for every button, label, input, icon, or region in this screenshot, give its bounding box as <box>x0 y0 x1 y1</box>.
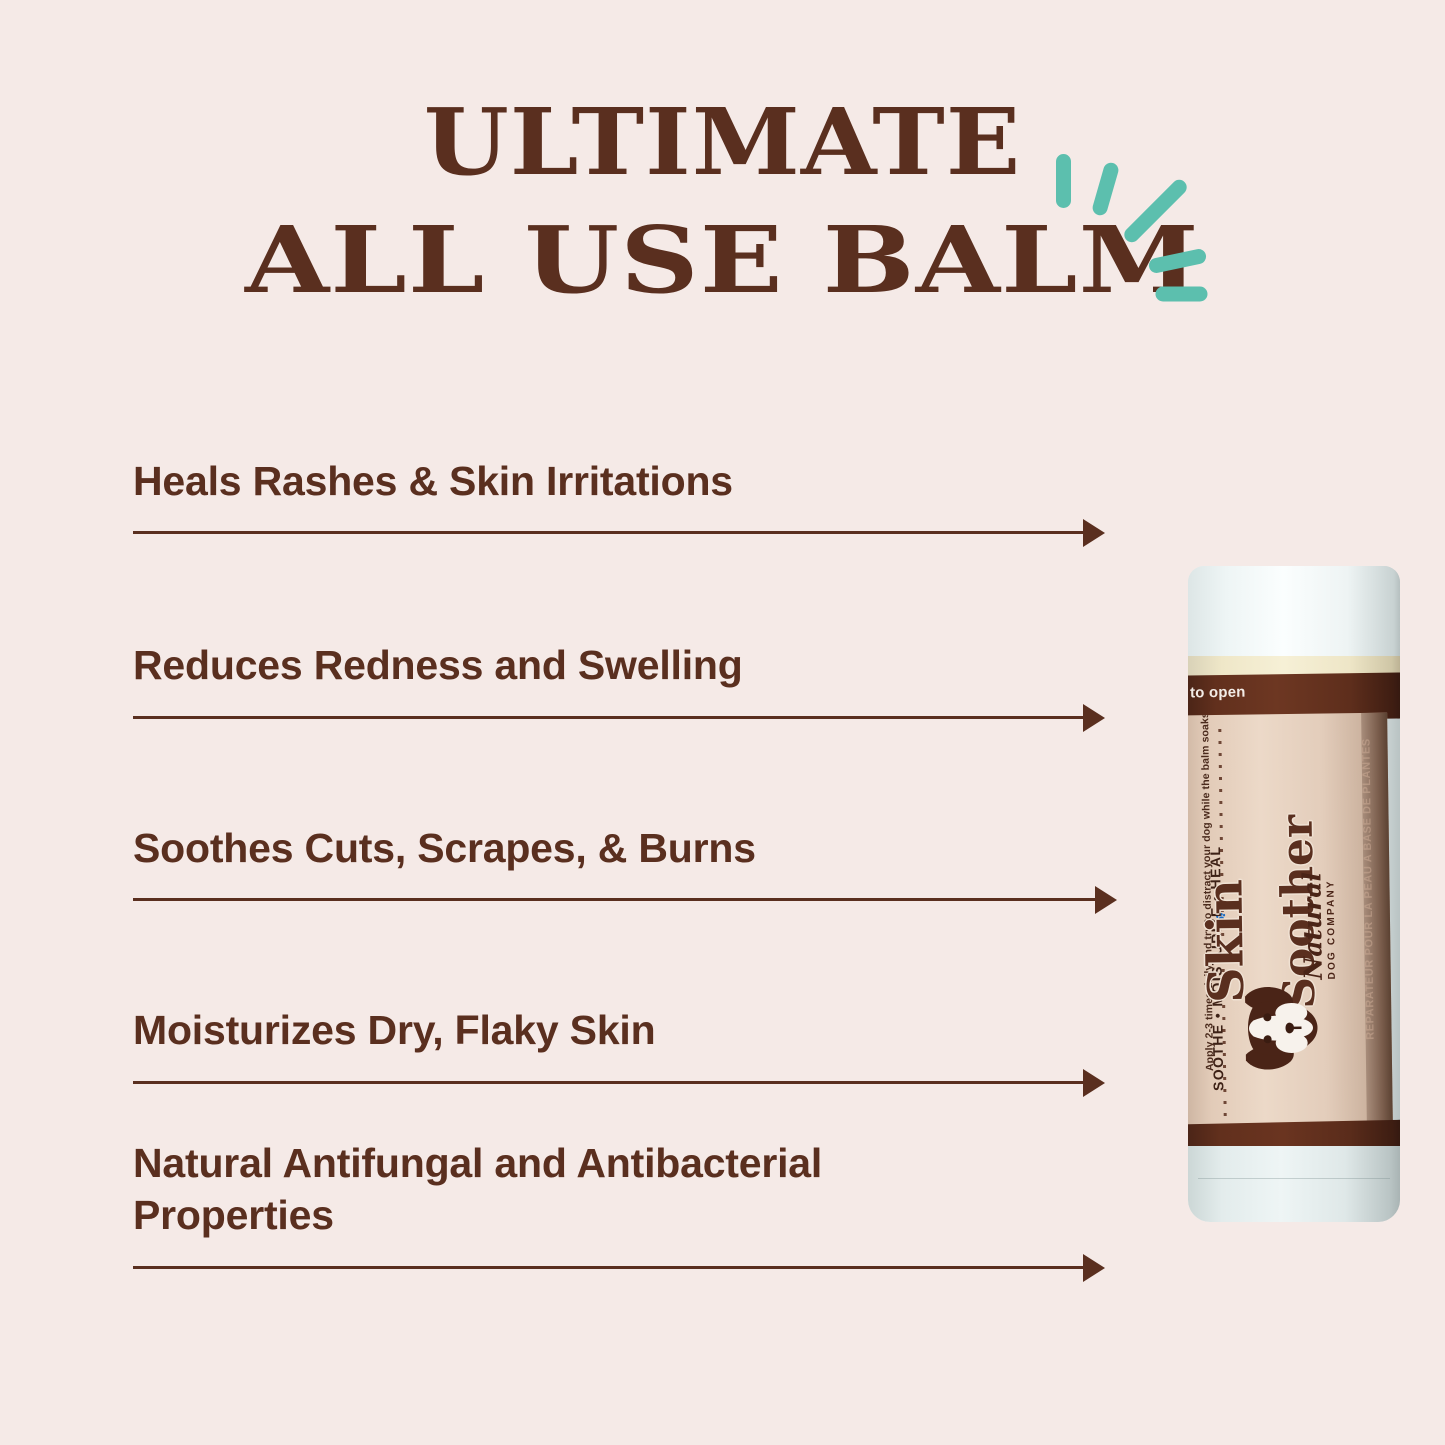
list-item: Reduces Redness and Swelling <box>133 639 1123 729</box>
spacer <box>133 730 1123 822</box>
cap-instruction-text: to open <box>1190 684 1246 702</box>
brand-lockup: Natural DOG COMPANY <box>1233 969 1375 1111</box>
infographic-canvas: ULTIMATE ALL USE BALM Heals Rashes & Ski… <box>0 0 1445 1445</box>
arrow-rule <box>133 1254 1123 1280</box>
arrow-rule <box>133 886 1123 912</box>
arrow-line <box>133 898 1095 901</box>
spacer <box>133 545 1123 639</box>
list-item: Heals Rashes & Skin Irritations <box>133 455 1123 545</box>
tube-base-seam <box>1198 1178 1390 1179</box>
list-item: Natural Antifungal and Antibacterial Pro… <box>133 1137 1123 1280</box>
arrow-head-icon <box>1083 704 1105 732</box>
list-item: Moisturizes Dry, Flaky Skin <box>133 1004 1123 1094</box>
headline-line-1: ULTIMATE <box>0 96 1445 188</box>
arrow-head-icon <box>1083 1069 1105 1097</box>
product-image: to open 🐾 SOOTHE • MOISTURIZE • HEAL App… <box>1188 566 1400 1222</box>
arrow-line <box>133 1266 1083 1269</box>
arrow-head-icon <box>1095 886 1117 914</box>
brand-tagline: DOG COMPANY <box>1325 879 1337 979</box>
list-item: Soothes Cuts, Scrapes, & Burns <box>133 822 1123 912</box>
feature-label: Natural Antifungal and Antibacterial Pro… <box>133 1137 1123 1242</box>
arrow-line <box>133 716 1083 719</box>
spacer <box>133 1095 1123 1137</box>
spacer <box>133 912 1123 1004</box>
dog-face-logo-icon <box>1229 979 1334 1076</box>
product-label: 🐾 SOOTHE • MOISTURIZE • HEAL Apply 2-3 t… <box>1188 713 1393 1130</box>
tube-cap <box>1188 566 1400 662</box>
feature-list: Heals Rashes & Skin Irritations Reduces … <box>133 455 1123 1280</box>
tube-body: to open 🐾 SOOTHE • MOISTURIZE • HEAL App… <box>1188 566 1400 1222</box>
arrow-rule <box>133 1069 1123 1095</box>
page-title: ULTIMATE ALL USE BALM <box>0 96 1445 306</box>
feature-label: Heals Rashes & Skin Irritations <box>133 455 1123 507</box>
arrow-line <box>133 1081 1083 1084</box>
arrow-head-icon <box>1083 519 1105 547</box>
feature-label: Moisturizes Dry, Flaky Skin <box>133 1004 1123 1056</box>
headline-line-2: ALL USE BALM <box>0 214 1445 306</box>
arrow-rule <box>133 519 1123 545</box>
brand-name: Natural <box>1297 872 1328 980</box>
tube-base <box>1188 1146 1400 1222</box>
arrow-rule <box>133 704 1123 730</box>
feature-label: Reduces Redness and Swelling <box>133 639 1123 691</box>
feature-label: Soothes Cuts, Scrapes, & Burns <box>133 822 1123 874</box>
arrow-line <box>133 531 1083 534</box>
arrow-head-icon <box>1083 1254 1105 1282</box>
